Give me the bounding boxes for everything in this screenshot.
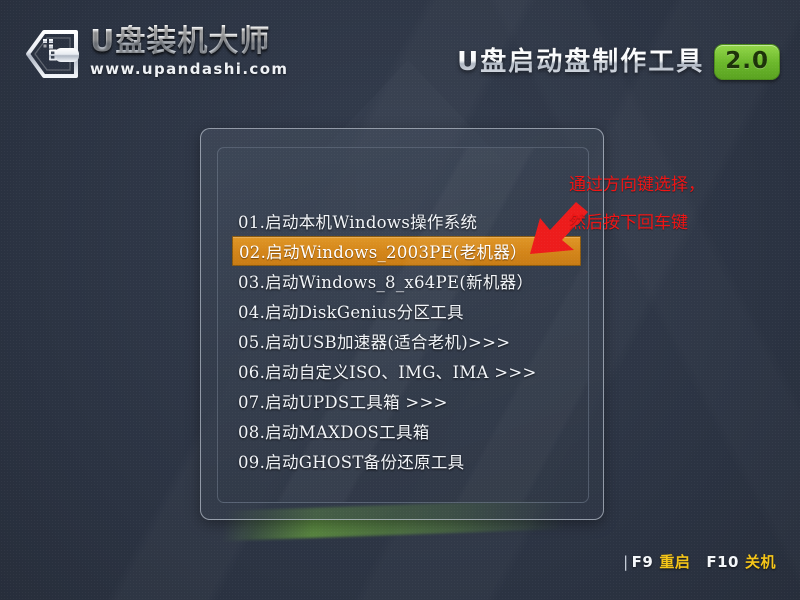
menu-item-03[interactable]: 03.启动Windows_8_x64PE(新机器） — [236, 266, 581, 296]
instruction-callout: 通过方向键选择， 然后按下回车键 — [569, 166, 784, 242]
hotkey-f9: F9 — [632, 553, 654, 571]
header: U盘装机大师 www.upandashi.com U盘启动盘制作工具 2.0 — [0, 0, 800, 105]
brand-title: U盘装机大师 — [90, 25, 288, 59]
menu-item-07[interactable]: 07.启动UPDS工具箱 >>> — [236, 386, 581, 416]
menu-item-06[interactable]: 06.启动自定义ISO、IMG、IMA >>> — [236, 356, 581, 386]
hotkey-f9-action: 重启 — [659, 551, 690, 572]
usb-drive-icon — [22, 26, 82, 82]
menu-item-08[interactable]: 08.启动MAXDOS工具箱 — [236, 416, 581, 446]
instruction-line-2: 然后按下回车键 — [569, 204, 784, 242]
brand-text-block: U盘装机大师 www.upandashi.com — [90, 25, 288, 78]
menu-item-09[interactable]: 09.启动GHOST备份还原工具 — [236, 446, 581, 476]
hotkey-f10: F10 — [706, 553, 739, 571]
menu-item-04[interactable]: 04.启动DiskGenius分区工具 — [236, 296, 581, 326]
product-title: U盘启动盘制作工具 — [457, 47, 704, 77]
menu-panel-outer: 01.启动本机Windows操作系统 02.启动Windows_2003PE(老… — [200, 128, 604, 520]
version-badge: 2.0 — [714, 44, 780, 80]
menu-item-01[interactable]: 01.启动本机Windows操作系统 — [236, 206, 581, 236]
menu-item-02[interactable]: 02.启动Windows_2003PE(老机器） — [232, 236, 581, 266]
footer-hotkeys: | F9 重启 F10 关机 — [623, 551, 776, 572]
menu-panel-inner: 01.启动本机Windows操作系统 02.启动Windows_2003PE(老… — [217, 147, 589, 503]
brand-url: www.upandashi.com — [90, 60, 288, 78]
hotkey-f10-action: 关机 — [745, 551, 776, 572]
product-title-block: U盘启动盘制作工具 2.0 — [457, 44, 780, 80]
boot-menu-list[interactable]: 01.启动本机Windows操作系统 02.启动Windows_2003PE(老… — [218, 206, 588, 476]
instruction-line-1: 通过方向键选择， — [569, 166, 784, 204]
menu-item-05[interactable]: 05.启动USB加速器(适合老机)>>> — [236, 326, 581, 356]
boot-menu-screen: U盘装机大师 www.upandashi.com U盘启动盘制作工具 2.0 0… — [0, 0, 800, 600]
footer-separator: | — [623, 553, 629, 571]
brand-logo-block: U盘装机大师 www.upandashi.com — [22, 26, 288, 82]
